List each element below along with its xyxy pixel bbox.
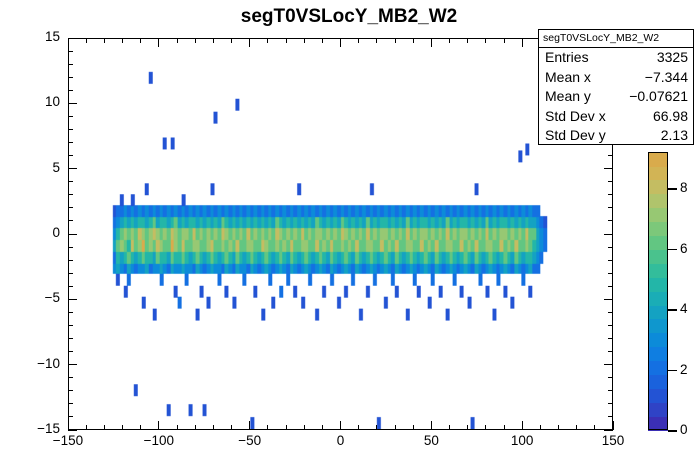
color-palette [648, 152, 668, 430]
x-axis-minor-tick [122, 38, 123, 43]
palette-tick [668, 430, 677, 432]
stats-row: Entries3325 [539, 48, 693, 68]
y-axis-minor-tick [68, 377, 73, 378]
x-axis-minor-tick [304, 38, 305, 43]
palette-band [648, 291, 668, 306]
y-axis-minor-tick [68, 247, 73, 248]
stats-row-label: Entries [545, 48, 589, 68]
x-axis-minor-tick [594, 425, 595, 430]
x-axis-tick [158, 38, 159, 47]
palette-band [648, 374, 668, 389]
palette-band [648, 263, 668, 278]
x-axis-minor-tick [322, 425, 323, 430]
y-axis-minor-tick [608, 247, 613, 248]
y-axis-minor-tick [68, 260, 73, 261]
x-axis-tick [340, 38, 341, 47]
x-axis-minor-tick [376, 425, 377, 430]
stats-row-value: 66.98 [653, 107, 688, 127]
palette-band [648, 152, 668, 167]
palette-tick [668, 188, 677, 190]
y-axis-tick [604, 299, 613, 300]
stats-row-value: −7.344 [645, 68, 688, 88]
y-axis-minor-tick [68, 390, 73, 391]
y-axis-minor-tick [68, 338, 73, 339]
palette-tick-label: 2 [680, 365, 688, 375]
x-axis-minor-tick [467, 425, 468, 430]
y-axis-minor-tick [608, 220, 613, 221]
y-axis-label: −5 [24, 293, 60, 303]
x-axis-minor-tick [395, 38, 396, 43]
y-axis-label: 15 [24, 32, 60, 42]
y-axis-tick [68, 38, 77, 39]
x-axis-minor-tick [195, 425, 196, 430]
stats-row: Std Dev x66.98 [539, 107, 693, 127]
y-axis-minor-tick [68, 194, 73, 195]
y-axis-minor-tick [68, 90, 73, 91]
x-axis-tick [249, 38, 250, 47]
y-axis-minor-tick [608, 260, 613, 261]
y-axis-label: −10 [24, 359, 60, 369]
x-axis-tick [522, 421, 523, 430]
y-axis-minor-tick [608, 155, 613, 156]
stats-row: Mean x−7.344 [539, 68, 693, 88]
palette-band [648, 235, 668, 250]
stats-box-title: segT0VSLocY_MB2_W2 [539, 30, 693, 48]
palette-band [648, 319, 668, 334]
palette-band [648, 222, 668, 237]
y-axis-tick [68, 103, 77, 104]
y-axis-minor-tick [608, 286, 613, 287]
x-axis-minor-tick [177, 38, 178, 43]
y-axis-minor-tick [608, 403, 613, 404]
page-title: segT0VSLocY_MB2_W2 [0, 6, 698, 28]
palette-tick-label: 8 [680, 183, 688, 193]
stats-row: Std Dev y2.13 [539, 126, 693, 146]
stats-box: segT0VSLocY_MB2_W2 Entries3325Mean x−7.3… [538, 29, 694, 145]
x-axis-minor-tick [449, 425, 450, 430]
x-axis-minor-tick [540, 425, 541, 430]
palette-tick-label: 6 [680, 244, 688, 254]
palette-band [648, 180, 668, 195]
x-axis-minor-tick [376, 38, 377, 43]
x-axis-tick [340, 421, 341, 430]
x-axis-minor-tick [485, 425, 486, 430]
x-axis-minor-tick [231, 425, 232, 430]
x-axis-minor-tick [140, 425, 141, 430]
x-axis-tick [158, 421, 159, 430]
x-axis-minor-tick [504, 38, 505, 43]
palette-tick-label: 4 [680, 304, 688, 314]
y-axis-tick [68, 430, 77, 431]
stats-row-value: 3325 [657, 48, 688, 68]
palette-tick [668, 249, 677, 251]
y-axis-minor-tick [608, 377, 613, 378]
x-axis-minor-tick [122, 425, 123, 430]
x-axis-minor-tick [104, 425, 105, 430]
palette-tick [668, 309, 677, 311]
y-axis-minor-tick [608, 390, 613, 391]
x-axis-minor-tick [231, 38, 232, 43]
x-axis-minor-tick [304, 425, 305, 430]
y-axis-label: 0 [24, 228, 60, 238]
x-axis-minor-tick [267, 38, 268, 43]
x-axis-minor-tick [558, 425, 559, 430]
x-axis-minor-tick [104, 38, 105, 43]
x-axis-tick [68, 38, 69, 47]
x-axis-tick [68, 421, 69, 430]
y-axis-label: 5 [24, 163, 60, 173]
x-axis-minor-tick [213, 38, 214, 43]
y-axis-minor-tick [68, 403, 73, 404]
stats-row-label: Mean x [545, 68, 591, 88]
stats-row-label: Std Dev y [545, 126, 606, 146]
stats-row-value: −0.07621 [629, 87, 688, 107]
y-axis-minor-tick [68, 116, 73, 117]
palette-band [648, 416, 668, 431]
y-axis-minor-tick [68, 155, 73, 156]
y-axis-minor-tick [608, 325, 613, 326]
x-axis-label: −100 [135, 435, 183, 447]
palette-band [648, 249, 668, 264]
x-axis-minor-tick [286, 38, 287, 43]
stats-row: Mean y−0.07621 [539, 87, 693, 107]
x-axis-minor-tick [504, 425, 505, 430]
x-axis-label: 150 [589, 435, 637, 447]
palette-band [648, 347, 668, 362]
y-axis-tick [68, 234, 77, 235]
y-axis-minor-tick [608, 351, 613, 352]
plot-frame [68, 38, 613, 430]
y-axis-minor-tick [68, 51, 73, 52]
y-axis-tick [604, 168, 613, 169]
x-axis-label: −50 [226, 435, 274, 447]
y-axis-tick [604, 234, 613, 235]
x-axis-minor-tick [449, 38, 450, 43]
y-axis-minor-tick [68, 181, 73, 182]
palette-band [648, 402, 668, 417]
x-axis-tick [431, 38, 432, 47]
y-axis-minor-tick [68, 142, 73, 143]
palette-band [648, 333, 668, 348]
y-axis-minor-tick [68, 77, 73, 78]
palette-band [648, 194, 668, 209]
y-axis-minor-tick [68, 416, 73, 417]
y-axis-minor-tick [608, 416, 613, 417]
x-axis-tick [249, 421, 250, 430]
x-axis-tick [431, 421, 432, 430]
y-axis-tick [68, 299, 77, 300]
palette-band [648, 305, 668, 320]
palette-tick-label: 0 [680, 425, 688, 435]
x-axis-minor-tick [195, 38, 196, 43]
x-axis-minor-tick [86, 38, 87, 43]
y-axis-minor-tick [68, 273, 73, 274]
x-axis-minor-tick [358, 38, 359, 43]
x-axis-minor-tick [485, 38, 486, 43]
y-axis-minor-tick [608, 181, 613, 182]
x-axis-label: 0 [317, 435, 365, 447]
y-axis-minor-tick [68, 312, 73, 313]
x-axis-minor-tick [286, 425, 287, 430]
x-axis-minor-tick [140, 38, 141, 43]
palette-band [648, 166, 668, 181]
x-axis-label: −150 [44, 435, 92, 447]
y-axis-tick [68, 168, 77, 169]
y-axis-minor-tick [608, 338, 613, 339]
x-axis-minor-tick [86, 425, 87, 430]
x-axis-tick [522, 38, 523, 47]
palette-band [648, 208, 668, 223]
y-axis-minor-tick [68, 325, 73, 326]
x-axis-minor-tick [177, 425, 178, 430]
y-axis-minor-tick [608, 312, 613, 313]
stats-row-label: Mean y [545, 87, 591, 107]
x-axis-minor-tick [413, 38, 414, 43]
x-axis-minor-tick [576, 425, 577, 430]
heatmap-canvas [69, 39, 612, 429]
y-axis-minor-tick [608, 207, 613, 208]
x-axis-label: 100 [498, 435, 546, 447]
root-canvas: segT0VSLocY_MB2_W2 −15−10−5051015 −150−1… [0, 0, 698, 476]
palette-band [648, 361, 668, 376]
y-axis-label: 10 [24, 97, 60, 107]
y-axis-minor-tick [608, 273, 613, 274]
x-axis-minor-tick [267, 425, 268, 430]
x-axis-minor-tick [395, 425, 396, 430]
palette-band [648, 388, 668, 403]
x-axis-minor-tick [322, 38, 323, 43]
stats-row-label: Std Dev x [545, 107, 606, 127]
y-axis-minor-tick [608, 194, 613, 195]
palette-tick [668, 370, 677, 372]
x-axis-tick [613, 421, 614, 430]
y-axis-minor-tick [68, 220, 73, 221]
y-axis-minor-tick [68, 286, 73, 287]
y-axis-tick [604, 364, 613, 365]
x-axis-minor-tick [467, 38, 468, 43]
stats-row-value: 2.13 [661, 126, 688, 146]
y-axis-minor-tick [68, 129, 73, 130]
y-axis-minor-tick [68, 64, 73, 65]
y-axis-minor-tick [68, 207, 73, 208]
y-axis-minor-tick [68, 351, 73, 352]
x-axis-label: 50 [407, 435, 455, 447]
y-axis-tick [68, 364, 77, 365]
x-axis-minor-tick [413, 425, 414, 430]
stats-box-rows: Entries3325Mean x−7.344Mean y−0.07621Std… [539, 48, 693, 146]
x-axis-minor-tick [213, 425, 214, 430]
palette-band [648, 277, 668, 292]
x-axis-minor-tick [358, 425, 359, 430]
